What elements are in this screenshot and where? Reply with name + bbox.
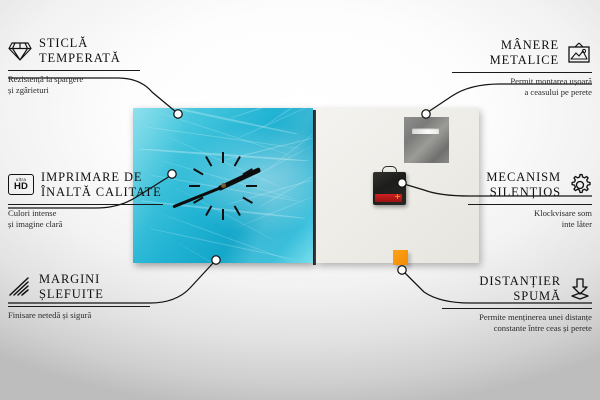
callout-sub-line2: și zgârieturi [8, 85, 140, 96]
callout-sub-line2: a ceasului pe perete [452, 87, 592, 98]
callout-sub-line1: Rezistență la spargere [8, 74, 140, 85]
callout-divider [8, 306, 150, 307]
callout-title-line1: MÂNERE [501, 38, 559, 53]
infographic-canvas: STICLĂ TEMPERATĂ Rezistență la spargere … [0, 0, 600, 400]
callout-foam-spacer[interactable]: DISTANȚIER SPUMĂ Permite menținerea unei… [442, 274, 592, 334]
callout-title-line1: MECANISM [486, 170, 561, 185]
gear-icon [568, 173, 592, 197]
foam-spacer-arrow-icon [568, 277, 592, 301]
callout-sub-line1: Culori intense [8, 208, 163, 219]
callout-sub-line1: Finisare netedă și sigură [8, 310, 150, 321]
polished-edge-icon [8, 277, 32, 297]
callout-divider [468, 204, 592, 205]
callout-polished-edges[interactable]: MARGINI ȘLEFUITE Finisare netedă și sigu… [8, 272, 150, 321]
hd-icon-hd-text: HD [14, 182, 28, 192]
callout-sub-line1: Permit montarea ușoară [452, 76, 592, 87]
callout-divider [452, 72, 592, 73]
diamond-icon [8, 41, 32, 61]
callout-title-line2: SPUMĂ [513, 289, 561, 304]
callout-title-line2: ȘLEFUITE [39, 287, 104, 302]
callout-sub-line2: și imagine clară [8, 219, 163, 230]
callout-title-line2: METALICE [490, 53, 559, 68]
callout-title-line2: SILENȚIOS [490, 185, 561, 200]
callout-title-line1: STICLĂ [39, 36, 121, 51]
callout-title-line1: DISTANȚIER [479, 274, 561, 289]
callout-metal-handles[interactable]: MÂNERE METALICE Permit montarea ușoară a… [452, 38, 592, 98]
callout-title-line2: TEMPERATĂ [39, 51, 121, 66]
callout-hd-print[interactable]: ultra HD IMPRIMARE DE ÎNALTĂ CALITATE Cu… [8, 170, 163, 230]
callout-sub-line1: Klockvisare som [468, 208, 592, 219]
callout-title-line2: ÎNALTĂ CALITATE [41, 185, 162, 200]
wall-mount-frame-icon [566, 42, 592, 64]
ultra-hd-icon: ultra HD [8, 174, 34, 195]
callout-divider [8, 70, 140, 71]
callout-divider [442, 308, 592, 309]
callout-title-line1: IMPRIMARE DE [41, 170, 162, 185]
callout-tempered-glass[interactable]: STICLĂ TEMPERATĂ Rezistență la spargere … [8, 36, 140, 96]
callout-title-line1: MARGINI [39, 272, 104, 287]
callout-divider [8, 204, 163, 205]
callout-silent-mechanism[interactable]: MECANISM SILENȚIOS Klockvisare som inte … [468, 170, 592, 230]
callout-sub-line2: inte låter [468, 219, 592, 230]
callout-sub-line1: Permite menținerea unei distanțe [442, 312, 592, 323]
callout-sub-line2: constante între ceas și perete [442, 323, 592, 334]
